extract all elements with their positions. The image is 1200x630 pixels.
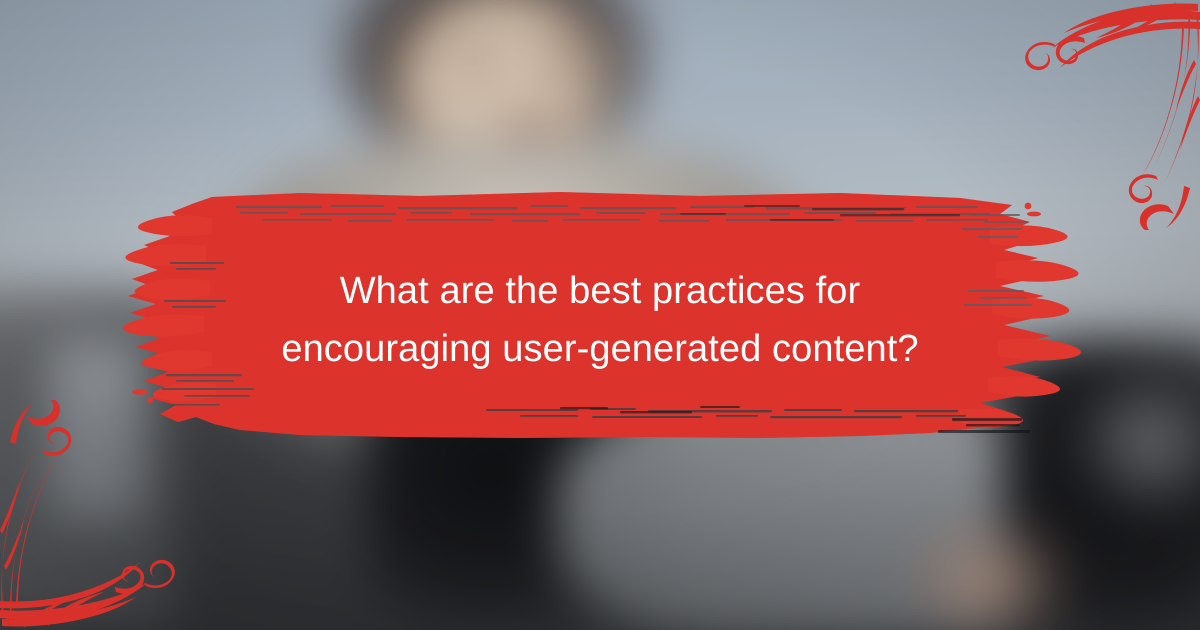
background-blur-shape [457, 50, 504, 82]
corner-flourish-bottom-left-icon [0, 400, 230, 630]
page-title: What are the best practices for encourag… [160, 262, 1040, 378]
background-blur-shape [534, 45, 581, 77]
quote-card: What are the best practices for encourag… [0, 0, 1200, 630]
corner-flourish-top-right-icon [970, 0, 1200, 230]
